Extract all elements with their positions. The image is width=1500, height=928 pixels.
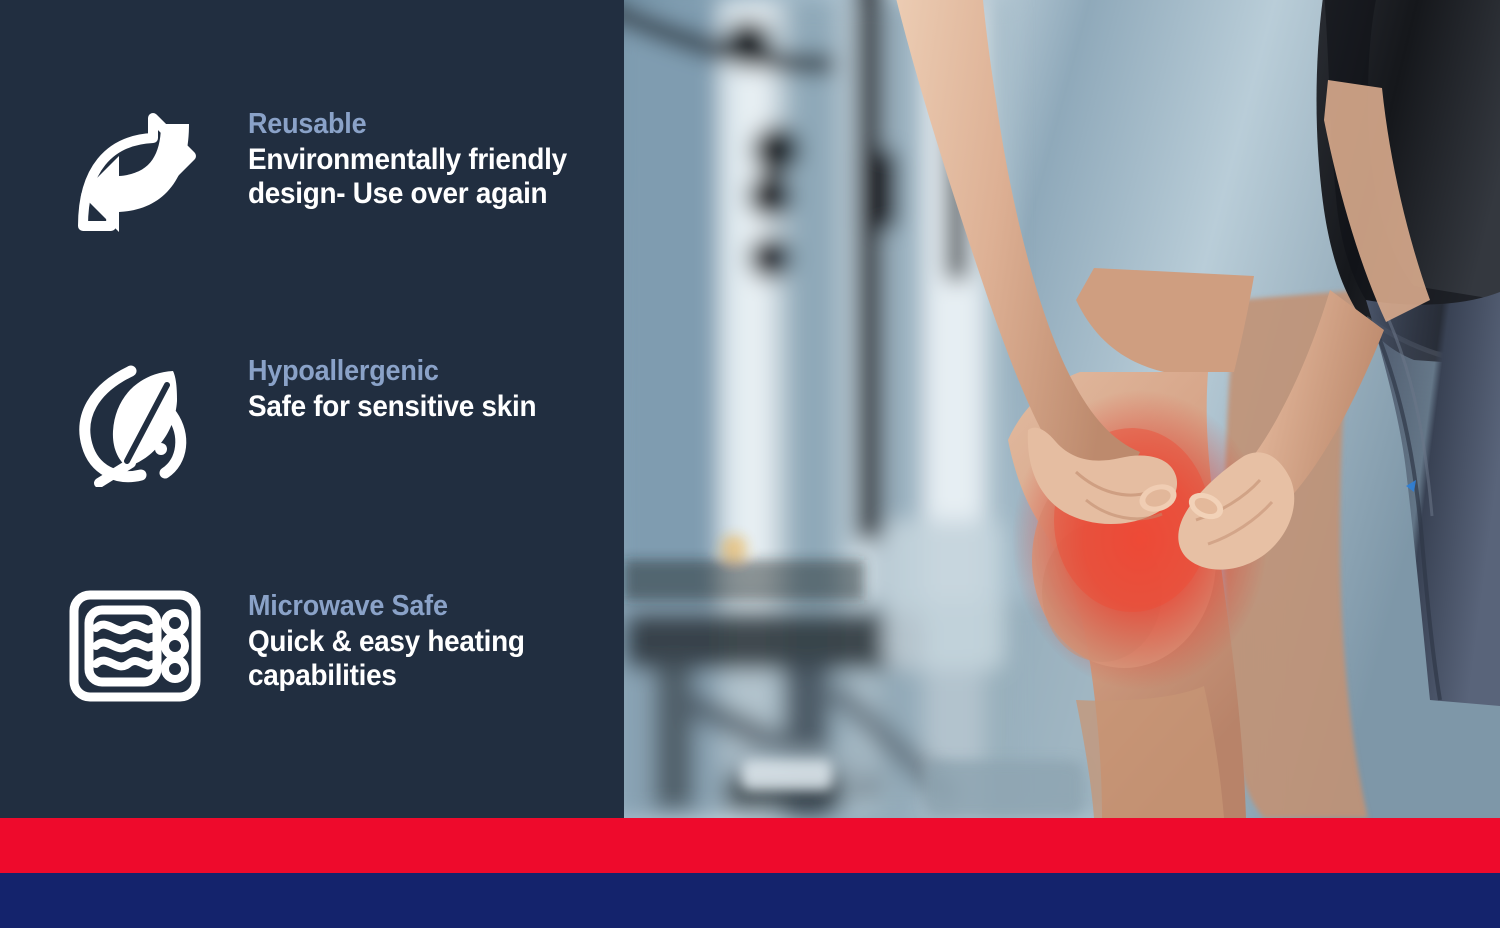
feature-item-hypoallergenic: Hypoallergenic Safe for sensitive skin bbox=[0, 355, 624, 487]
feature-body-line: design- Use over again bbox=[248, 177, 567, 211]
feature-heading: Hypoallergenic bbox=[248, 357, 536, 387]
feature-body: Environmentally friendly design- Use ove… bbox=[248, 143, 567, 211]
feature-text-block: Microwave Safe Quick & easy heating capa… bbox=[248, 590, 545, 693]
feature-body-line: Safe for sensitive skin bbox=[248, 390, 536, 424]
recycle-arrows-icon bbox=[60, 108, 210, 240]
feature-body: Quick & easy heating capabilities bbox=[248, 625, 525, 693]
feature-heading: Reusable bbox=[248, 110, 567, 140]
features-panel: Reusable Environmentally friendly design… bbox=[0, 0, 624, 818]
feature-body-line: capabilities bbox=[248, 659, 525, 693]
feature-body: Safe for sensitive skin bbox=[248, 390, 536, 424]
feature-body-line: Quick & easy heating bbox=[248, 625, 525, 659]
feature-item-reusable: Reusable Environmentally friendly design… bbox=[0, 108, 624, 240]
bottom-bar-red bbox=[0, 818, 1500, 873]
product-lifestyle-photo: MEDI TEMP ® bbox=[624, 0, 1500, 818]
feature-item-microwave-safe: Microwave Safe Quick & easy heating capa… bbox=[0, 590, 624, 702]
feature-heading: Microwave Safe bbox=[248, 592, 525, 622]
feather-leaf-icon bbox=[60, 355, 210, 487]
feature-body-line: Environmentally friendly bbox=[248, 143, 567, 177]
bottom-bar-navy bbox=[0, 873, 1500, 928]
microwave-icon bbox=[60, 590, 210, 702]
product-feature-banner: Reusable Environmentally friendly design… bbox=[0, 0, 1500, 928]
feature-text-block: Reusable Environmentally friendly design… bbox=[248, 108, 591, 211]
feature-text-block: Hypoallergenic Safe for sensitive skin bbox=[248, 355, 558, 424]
